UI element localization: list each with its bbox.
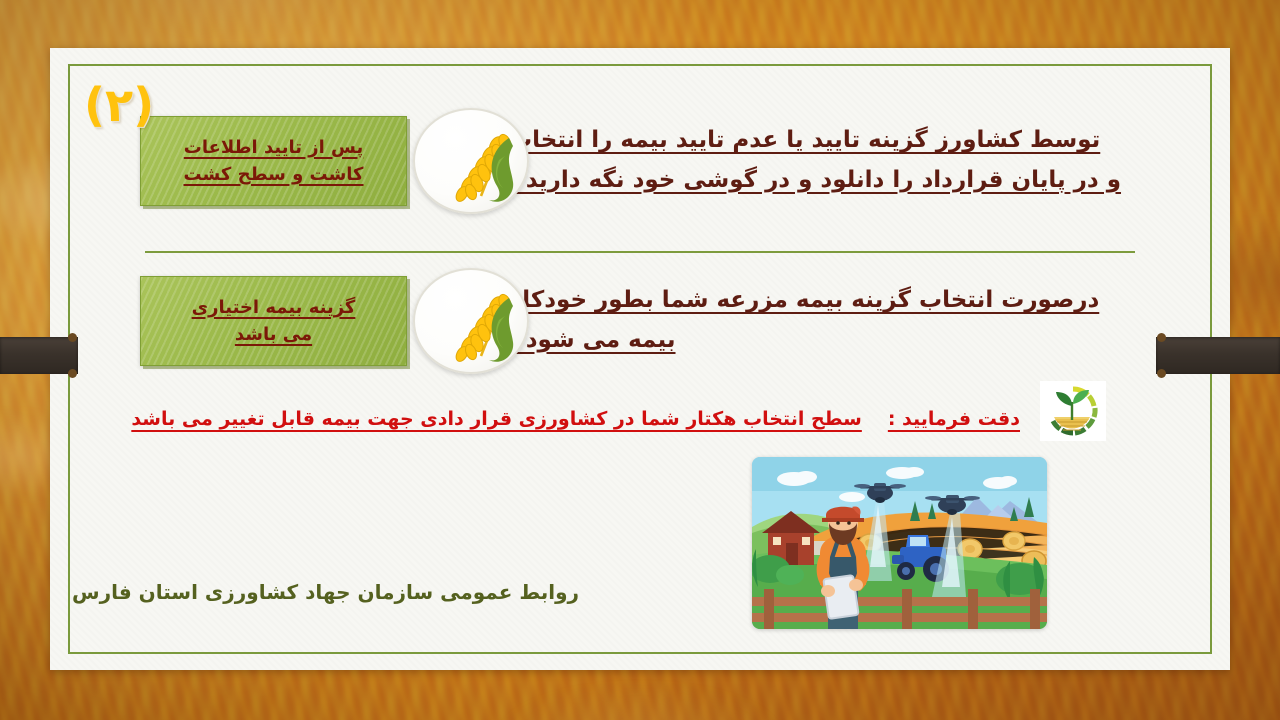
page-number: (۲) (84, 78, 154, 132)
row-2-label-line2: می باشد (235, 321, 312, 348)
row-1-label-line1: پس از تایید اطلاعات (184, 134, 364, 161)
row-2-text: درصورت انتخاب گزینه بیمه مزرعه شما بطور … (501, 282, 1200, 359)
row-2-green-label: گزینه بیمه اختیاری می باشد (140, 276, 407, 366)
notice-line: دقت فرمایید : سطح انتخاب هکتار شما در کش… (120, 396, 1020, 442)
row-1-green-label: پس از تایید اطلاعات کاشت و سطح کشت (140, 116, 407, 206)
row-1-text: توسط کشاورز گزینه تایید یا عدم تایید بیم… (501, 122, 1200, 199)
agriculture-jihad-logo (1040, 381, 1106, 441)
wheat-leaf-icon (413, 268, 529, 374)
row-1-label-line2: کاشت و سطح کشت (183, 161, 363, 188)
content-row-2: درصورت انتخاب گزینه بیمه مزرعه شما بطور … (140, 268, 1200, 373)
section-divider (145, 251, 1135, 253)
ribbon-left (0, 337, 78, 374)
content-row-1: توسط کشاورز گزینه تایید یا عدم تایید بیم… (140, 108, 1200, 213)
notice-label: دقت فرمایید : (888, 408, 1020, 430)
row-1-text-line1: توسط کشاورز گزینه تایید یا عدم تایید بیم… (509, 122, 1100, 159)
wheat-leaf-icon (413, 108, 529, 214)
row-2-text-line2: بیمه می شود . (509, 322, 1178, 359)
row-2-label-line1: گزینه بیمه اختیاری (192, 294, 356, 321)
row-1-text-line2: و در پایان قرارداد را دانلود و در گوشی خ… (509, 162, 1178, 199)
smart-farming-illustration-art (752, 457, 1047, 629)
wheat-leaf-glyph (413, 268, 529, 374)
footer-text: روابط عمومی سازمان جهاد کشاورزی استان فا… (72, 580, 579, 604)
agriculture-jihad-logo-glyph (1044, 384, 1102, 438)
row-2-text-line1: درصورت انتخاب گزینه بیمه مزرعه شما بطور … (509, 282, 1099, 319)
wheat-leaf-glyph (413, 108, 529, 214)
smart-farming-illustration (752, 457, 1047, 629)
notice-body: سطح انتخاب هکتار شما در کشاورزی قرار داد… (131, 408, 862, 430)
